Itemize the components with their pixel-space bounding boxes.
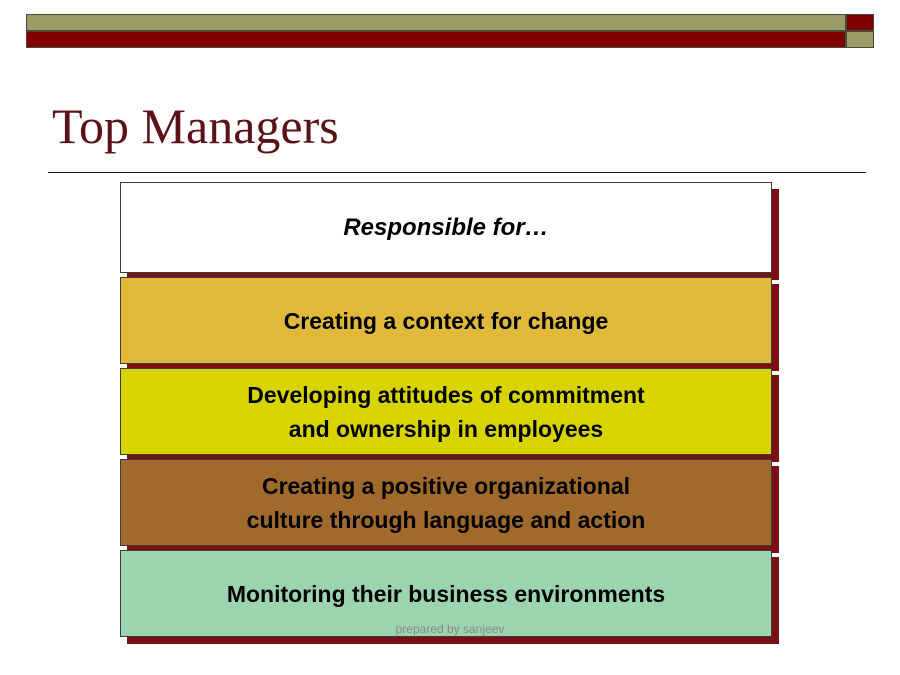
header-band-top-long	[26, 14, 846, 31]
content-box-label-1: Responsible for…	[135, 211, 757, 245]
header-band-bottom-row	[26, 31, 874, 48]
content-box-label-4: Creating a positive organizational cultu…	[135, 469, 757, 537]
header-band-bottom-long	[26, 31, 846, 48]
content-box-label-5: Monitoring their business environments	[135, 577, 757, 611]
content-box-label-2: Creating a context for change	[135, 304, 757, 338]
content-box-label-4-line1: Creating a positive organizational	[262, 473, 630, 499]
content-box-monitoring-environments[interactable]: Monitoring their business environments	[120, 550, 772, 637]
content-box-label-3-line1: Developing attitudes of commitment	[247, 382, 644, 408]
content-box-wrapper-4: Creating a positive organizational cultu…	[120, 459, 780, 546]
content-box-developing-attitudes[interactable]: Developing attitudes of commitment and o…	[120, 368, 772, 455]
header-band-bottom-square	[846, 31, 874, 48]
header-decoration-band	[26, 14, 874, 48]
title-divider-rule	[48, 172, 866, 173]
content-box-creating-context[interactable]: Creating a context for change	[120, 277, 772, 364]
page-title: Top Managers	[52, 96, 339, 156]
content-box-wrapper-3: Developing attitudes of commitment and o…	[120, 368, 780, 455]
slide-canvas: Top Managers Responsible for… Creating a…	[0, 0, 900, 675]
content-box-label-3-line2: and ownership in employees	[289, 416, 603, 442]
content-box-label-3: Developing attitudes of commitment and o…	[135, 378, 757, 446]
content-box-stack: Responsible for… Creating a context for …	[120, 182, 780, 641]
header-band-top-square	[846, 14, 874, 31]
content-box-responsible-for[interactable]: Responsible for…	[120, 182, 772, 273]
content-box-wrapper-1: Responsible for…	[120, 182, 780, 273]
content-box-positive-culture[interactable]: Creating a positive organizational cultu…	[120, 459, 772, 546]
content-box-label-4-line2: culture through language and action	[247, 507, 646, 533]
content-box-wrapper-5: Monitoring their business environments	[120, 550, 780, 637]
content-box-wrapper-2: Creating a context for change	[120, 277, 780, 364]
header-band-top-row	[26, 14, 874, 31]
